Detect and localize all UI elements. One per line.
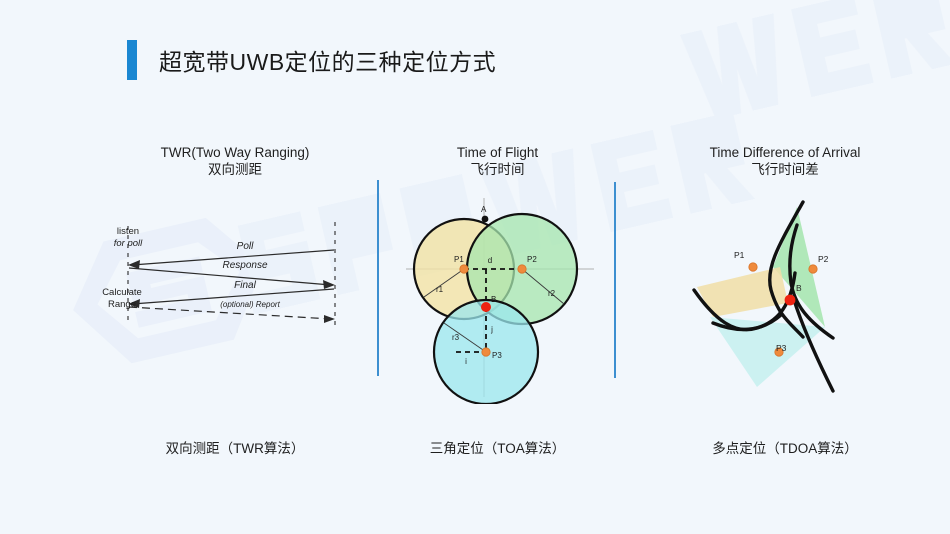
divider-left [377, 180, 379, 376]
tdoa-target-dot-b [785, 295, 796, 306]
toa-label-r2: r2 [548, 289, 556, 298]
twr-label-calculate-1: Calculate [102, 287, 142, 298]
caption-toa: 三角定位（TOA算法） [380, 437, 615, 457]
column-heading-tdoa-cn: 飞行时间差 [665, 161, 905, 179]
toa-label-i: i [465, 357, 467, 366]
twr-label-listen-1: listen [117, 226, 139, 237]
title-accent-bar [127, 40, 137, 80]
toa-anchor-dot-p1 [460, 265, 468, 273]
tdoa-diagram: P1 P2 P3 B [685, 195, 895, 395]
toa-point-dot-a [482, 216, 489, 223]
toa-anchor-dot-p2 [518, 265, 526, 273]
page-title-row: 超宽带UWB定位的三种定位方式 [127, 40, 496, 80]
toa-label-r3: r3 [452, 333, 460, 342]
column-heading-toa: Time of Flight 飞行时间 [380, 144, 615, 179]
toa-label-p3: P3 [492, 351, 502, 360]
caption-tdoa: 多点定位（TDOA算法） [665, 437, 905, 457]
twr-label-calculate-2: Range [108, 299, 136, 310]
caption-twr: 双向测距（TWR算法） [105, 437, 365, 457]
column-heading-tdoa-en: Time Difference of Arrival [665, 144, 905, 161]
twr-msg-label-final: Final [234, 280, 256, 291]
column-heading-twr-cn: 双向测距 [105, 161, 365, 179]
toa-label-r1: r1 [436, 285, 444, 294]
twr-msg-label-report: (optional) Report [220, 300, 280, 309]
toa-diagram: P1 P2 P3 A B d i j r1 r2 r3 [398, 192, 598, 404]
column-heading-tdoa: Time Difference of Arrival 飞行时间差 [665, 144, 905, 179]
toa-point-dot-b [481, 302, 491, 312]
tdoa-plane-green [773, 207, 825, 327]
tdoa-label-b: B [796, 283, 802, 293]
toa-label-b: B [491, 295, 496, 304]
twr-diagram: listen for poll Calculate Range Poll Res… [100, 222, 370, 332]
twr-arrowhead-response [323, 280, 335, 289]
twr-msg-label-response: Response [222, 260, 267, 271]
slide-canvas: 超宽带UWB定位的三种定位方式 TWR(Two Way Ranging) 双向测… [0, 0, 950, 534]
column-heading-toa-en: Time of Flight [380, 144, 615, 161]
divider-right [614, 182, 616, 378]
toa-label-p1: P1 [454, 255, 464, 264]
column-heading-twr-en: TWR(Two Way Ranging) [105, 144, 365, 161]
toa-label-d: d [488, 256, 492, 265]
twr-arrowhead-report [324, 315, 335, 323]
tdoa-label-p3: P3 [776, 343, 787, 353]
column-heading-toa-cn: 飞行时间 [380, 161, 615, 179]
toa-label-j: j [490, 325, 493, 334]
twr-msg-label-poll: Poll [237, 241, 254, 252]
twr-label-listen-2: for poll [114, 238, 143, 249]
tdoa-label-p2: P2 [818, 254, 829, 264]
toa-label-p2: P2 [527, 255, 537, 264]
tdoa-anchor-dot-p2 [809, 265, 817, 273]
toa-label-a: A [481, 205, 487, 214]
toa-anchor-dot-p3 [482, 348, 490, 356]
column-heading-twr: TWR(Two Way Ranging) 双向测距 [105, 144, 365, 179]
page-title: 超宽带UWB定位的三种定位方式 [159, 43, 496, 77]
tdoa-label-p1: P1 [734, 250, 745, 260]
tdoa-anchor-dot-p1 [749, 263, 757, 271]
